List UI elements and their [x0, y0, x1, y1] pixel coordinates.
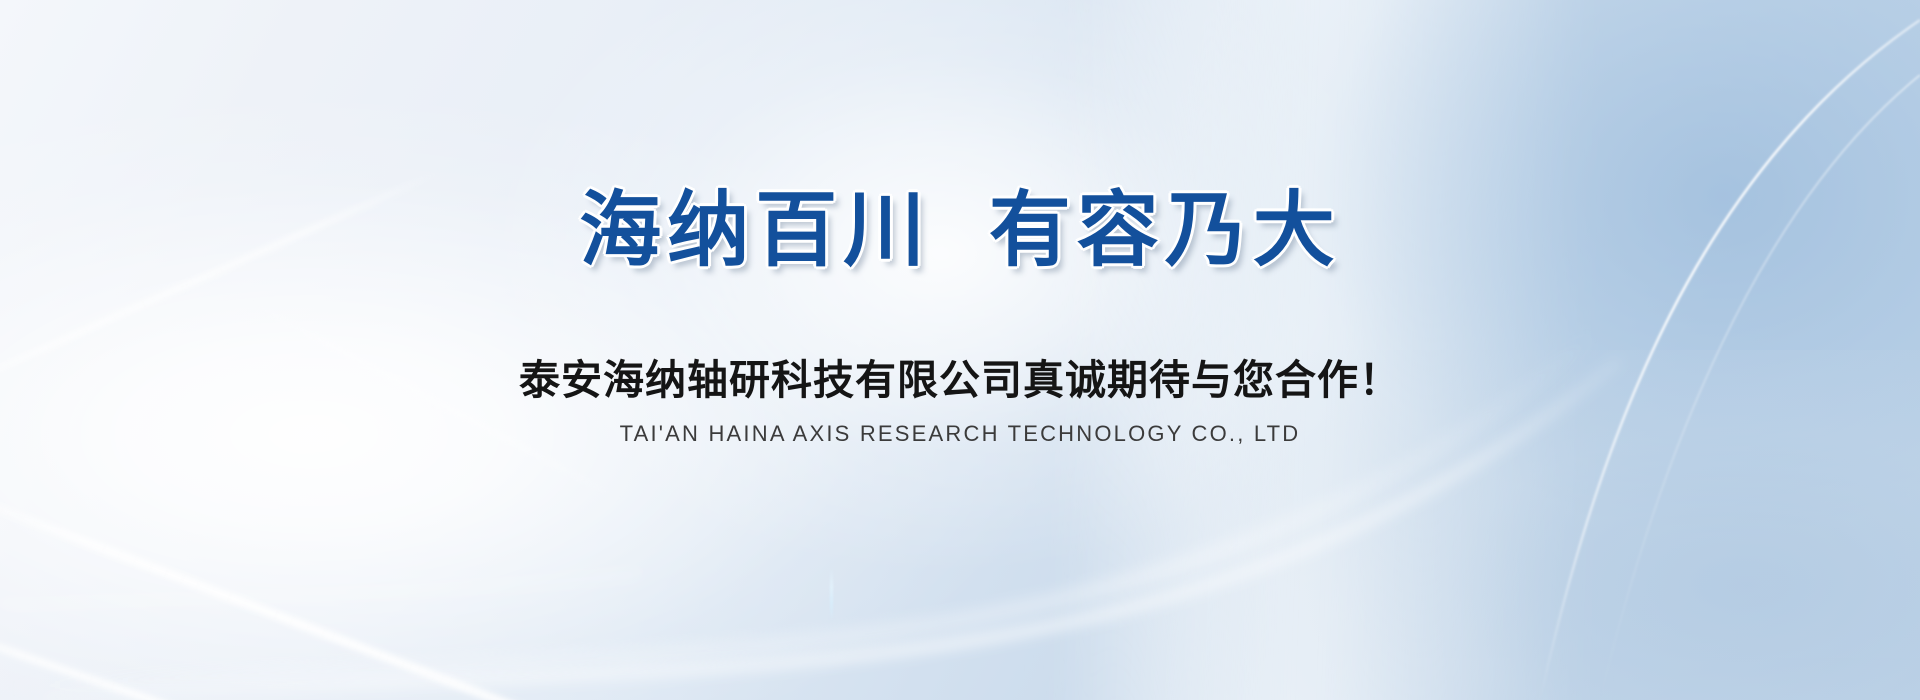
hero-banner: 海纳百川 有容乃大 泰安海纳轴研科技有限公司真诚期待与您合作！ TAI'AN H… [0, 0, 1920, 700]
banner-subtitle-chinese: 泰安海纳轴研科技有限公司真诚期待与您合作！ [519, 346, 1401, 406]
banner-headline: 海纳百川 有容乃大 [579, 188, 1341, 274]
banner-content: 海纳百川 有容乃大 泰安海纳轴研科技有限公司真诚期待与您合作！ TAI'AN H… [0, 0, 1920, 700]
banner-subtitle-english: TAI'AN HAINA AXIS RESEARCH TECHNOLOGY CO… [620, 421, 1301, 447]
